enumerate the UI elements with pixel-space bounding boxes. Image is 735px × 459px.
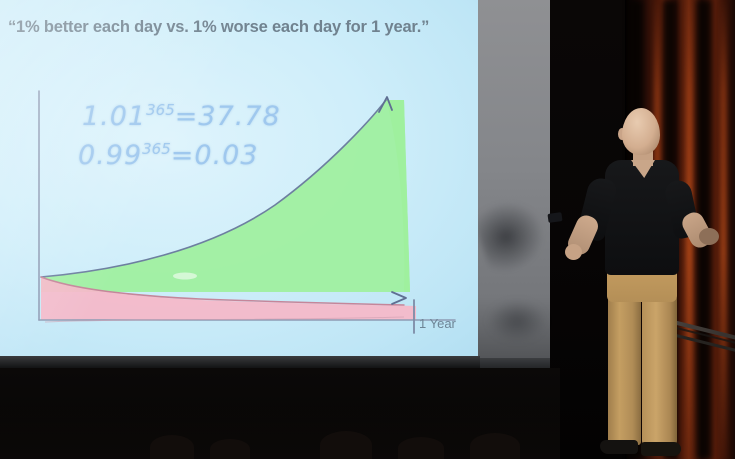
screenshot-frame: “1% better each day vs. 1% worse each da…	[0, 0, 735, 459]
equation-growth: 1.01365=37.78	[82, 101, 281, 132]
equation-growth-equals: =	[175, 101, 199, 132]
audience-head	[150, 435, 194, 459]
pink-curve-arrowhead	[392, 292, 406, 304]
growth-decay-chart	[0, 0, 478, 356]
wall-shadow-lower	[487, 300, 547, 342]
projected-slide: “1% better each day vs. 1% worse each da…	[0, 0, 478, 356]
equation-growth-exponent: 365	[146, 101, 175, 119]
presenter-shoe-left	[600, 440, 638, 454]
audience-head	[210, 439, 250, 459]
audience-head	[470, 433, 520, 459]
presenter-head	[622, 108, 660, 155]
presenter-leg-left	[608, 295, 641, 445]
audience-head	[398, 437, 444, 459]
equation-decay-equals: =	[171, 140, 195, 171]
equation-growth-base: 1.01	[82, 101, 146, 132]
equation-decay-base: 0.99	[78, 140, 142, 171]
audience-silhouettes	[0, 400, 560, 459]
equation-decay-exponent: 365	[142, 140, 171, 158]
presenter-hand-right	[699, 228, 719, 245]
curtain-fold-light-3	[720, 0, 727, 459]
x-axis-label-one-year: 1 Year	[419, 316, 456, 331]
presenter-hand-left	[565, 244, 582, 260]
equation-decay: 0.99365=0.03	[78, 140, 259, 171]
screen-bottom-frame	[0, 356, 480, 368]
projector-hotspot	[173, 273, 197, 280]
presenter-shirt	[605, 160, 679, 275]
presenter-leg-right	[642, 295, 677, 445]
audience-head	[320, 431, 372, 459]
equation-decay-result: 0.03	[194, 140, 258, 171]
presentation-clicker	[547, 212, 562, 223]
equation-growth-result: 37.78	[198, 101, 280, 132]
presenter-shoe-right	[641, 442, 681, 456]
